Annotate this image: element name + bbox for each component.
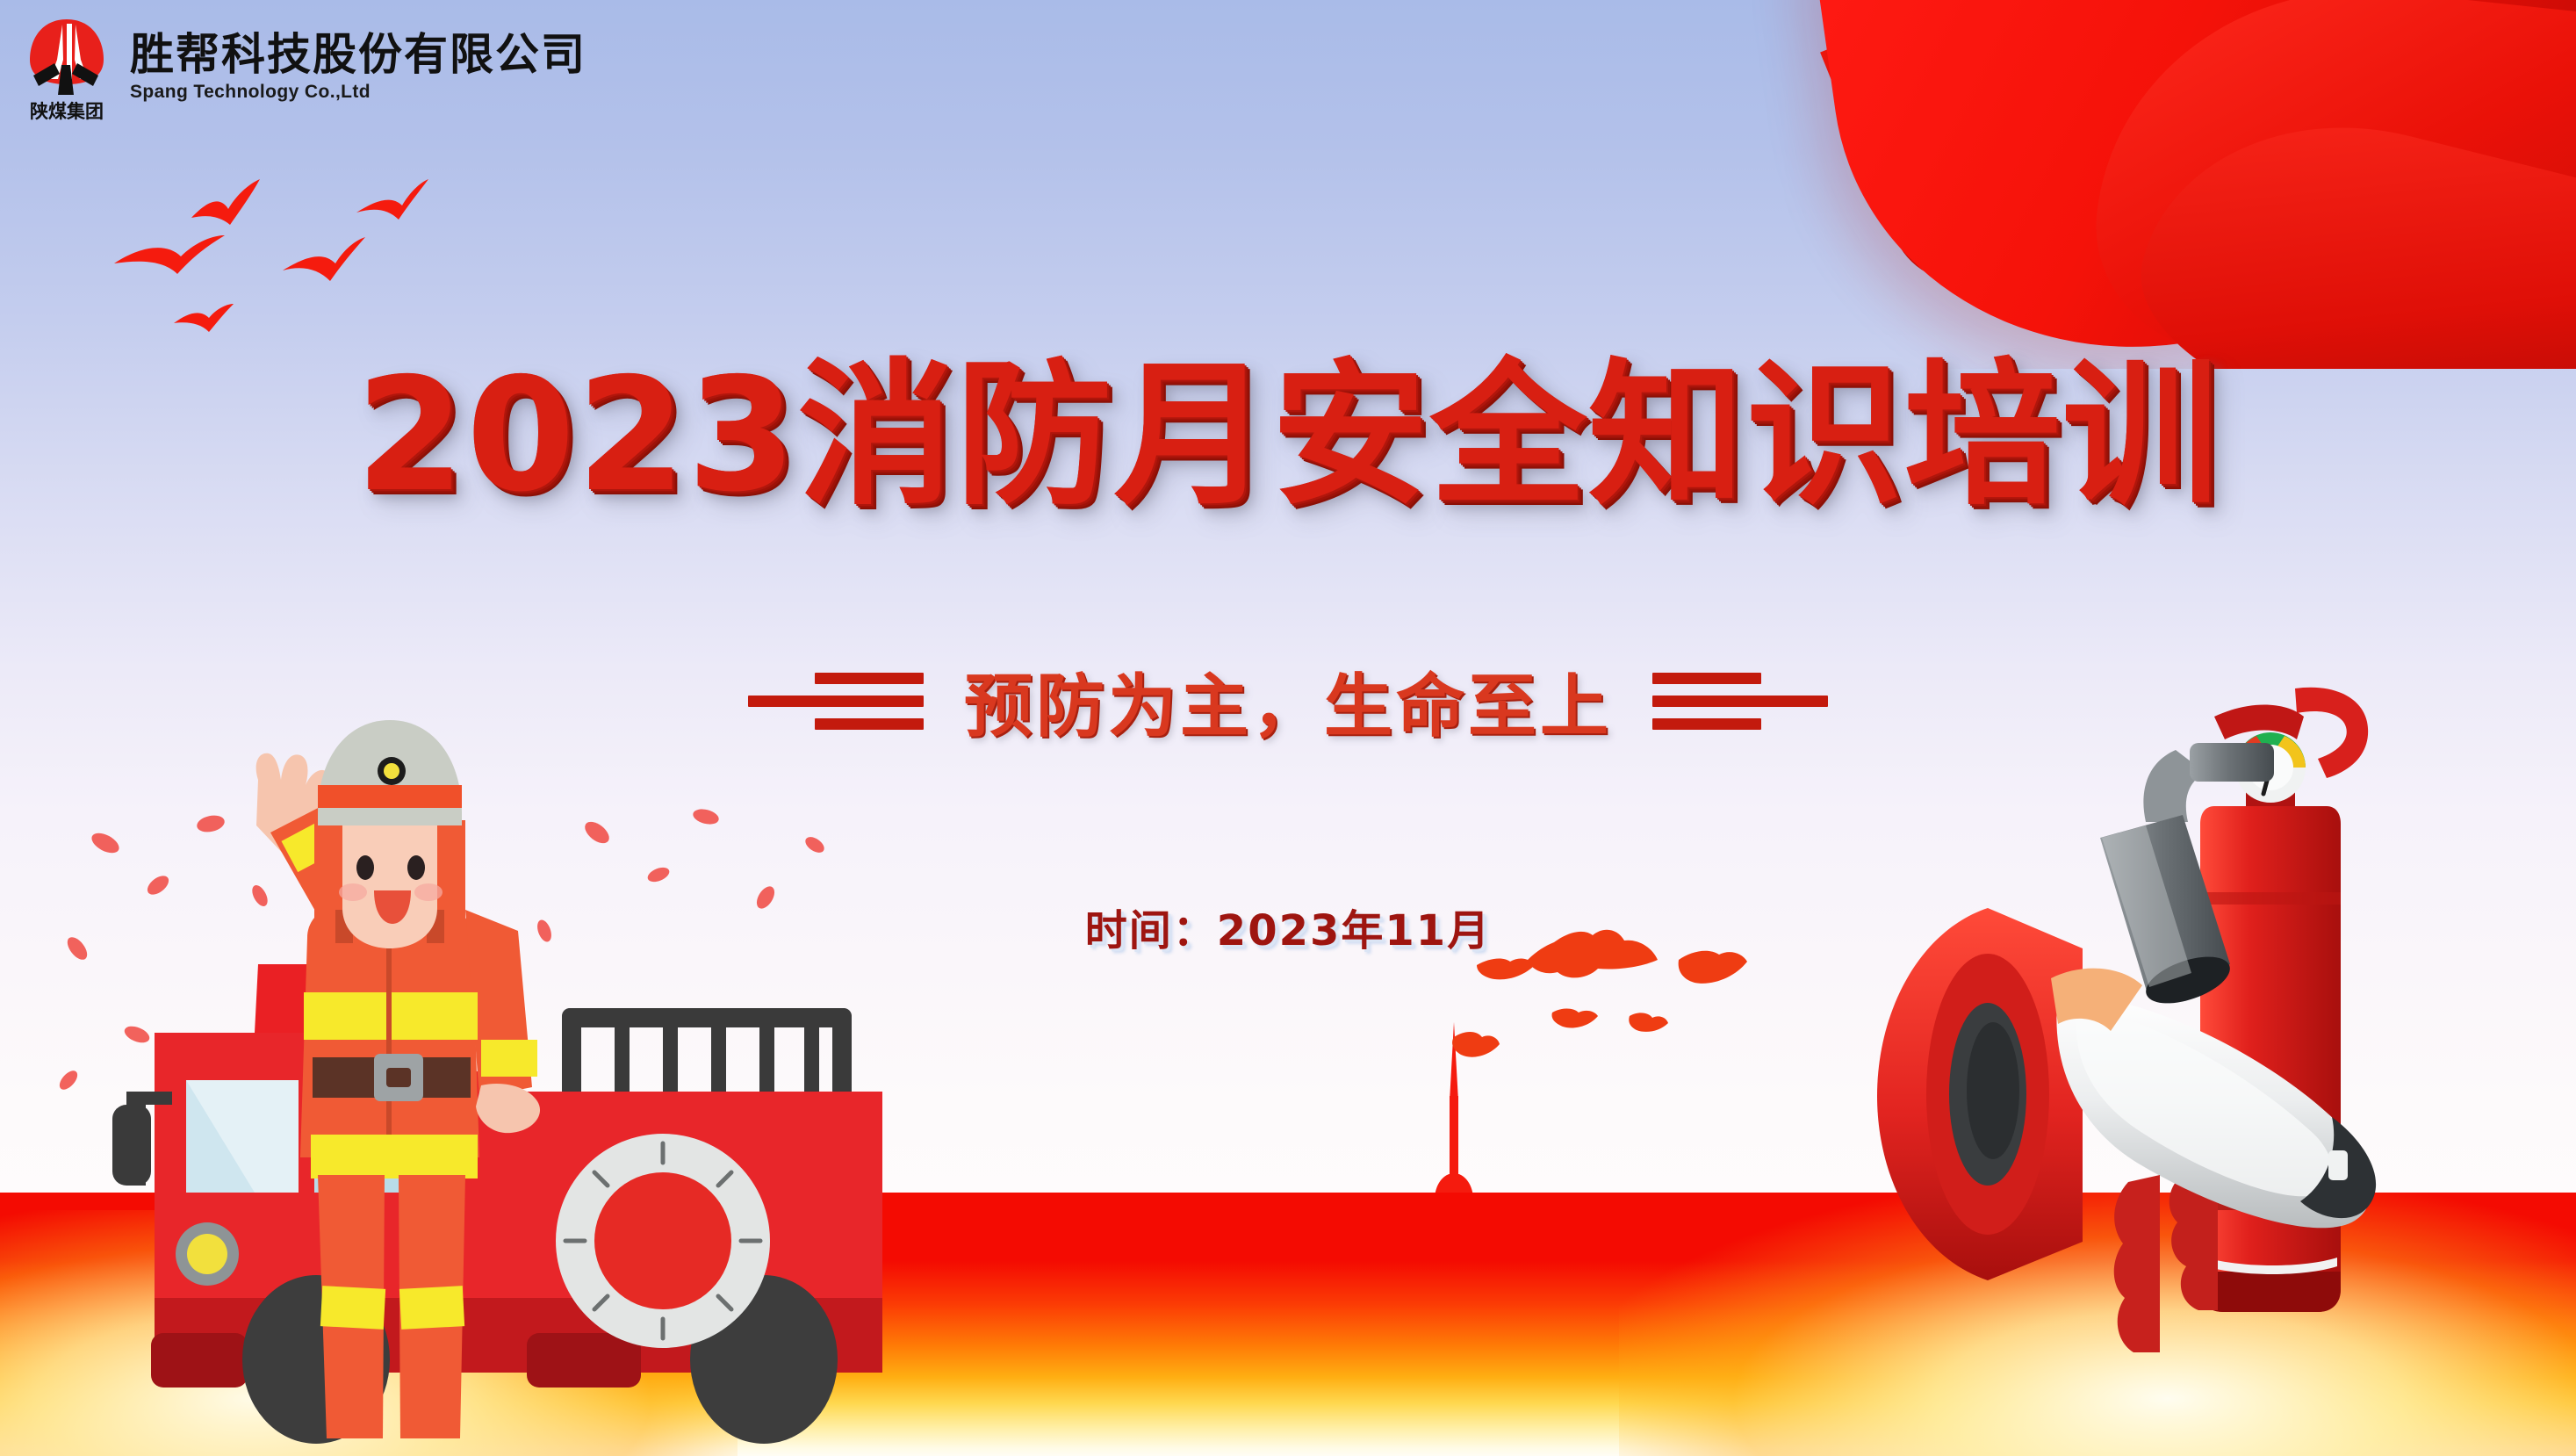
waving-firefighter-character-icon (202, 701, 579, 1456)
falling-red-petals-icon (53, 790, 931, 1159)
company-logo: 陕煤集团 胜帮科技股份有限公司 Spang Technology Co.,Ltd (19, 11, 586, 123)
ground-glow-left (0, 1210, 738, 1456)
red-ground-swoosh (0, 1087, 2576, 1456)
city-skyline-silhouette-icon (0, 964, 2576, 1456)
decorative-lines-left-icon (748, 673, 924, 730)
page-title: 2023消防月安全知识培训 (0, 309, 2576, 535)
event-date: 时间：2023年11月 (0, 896, 2576, 957)
svg-text:陕煤集团: 陕煤集团 (30, 101, 104, 122)
ground-glow-gradient (0, 1193, 2576, 1456)
company-name-en: Spang Technology Co.,Ltd (130, 83, 586, 101)
company-name-cn: 胜帮科技股份有限公司 (130, 32, 586, 76)
ground-glow-right (1619, 1193, 2576, 1456)
megaphone-and-extinguisher-icon (1847, 674, 2567, 1447)
subtitle-row: 预防为主，生命至上 (0, 652, 2576, 750)
shaanxi-coal-group-logo-icon: 陕煤集团 (19, 11, 114, 123)
poster-canvas: 陕煤集团 胜帮科技股份有限公司 Spang Technology Co.,Ltd… (0, 0, 2576, 1456)
subtitle-text: 预防为主，生命至上 (964, 652, 1612, 750)
decorative-lines-right-icon (1652, 673, 1828, 730)
